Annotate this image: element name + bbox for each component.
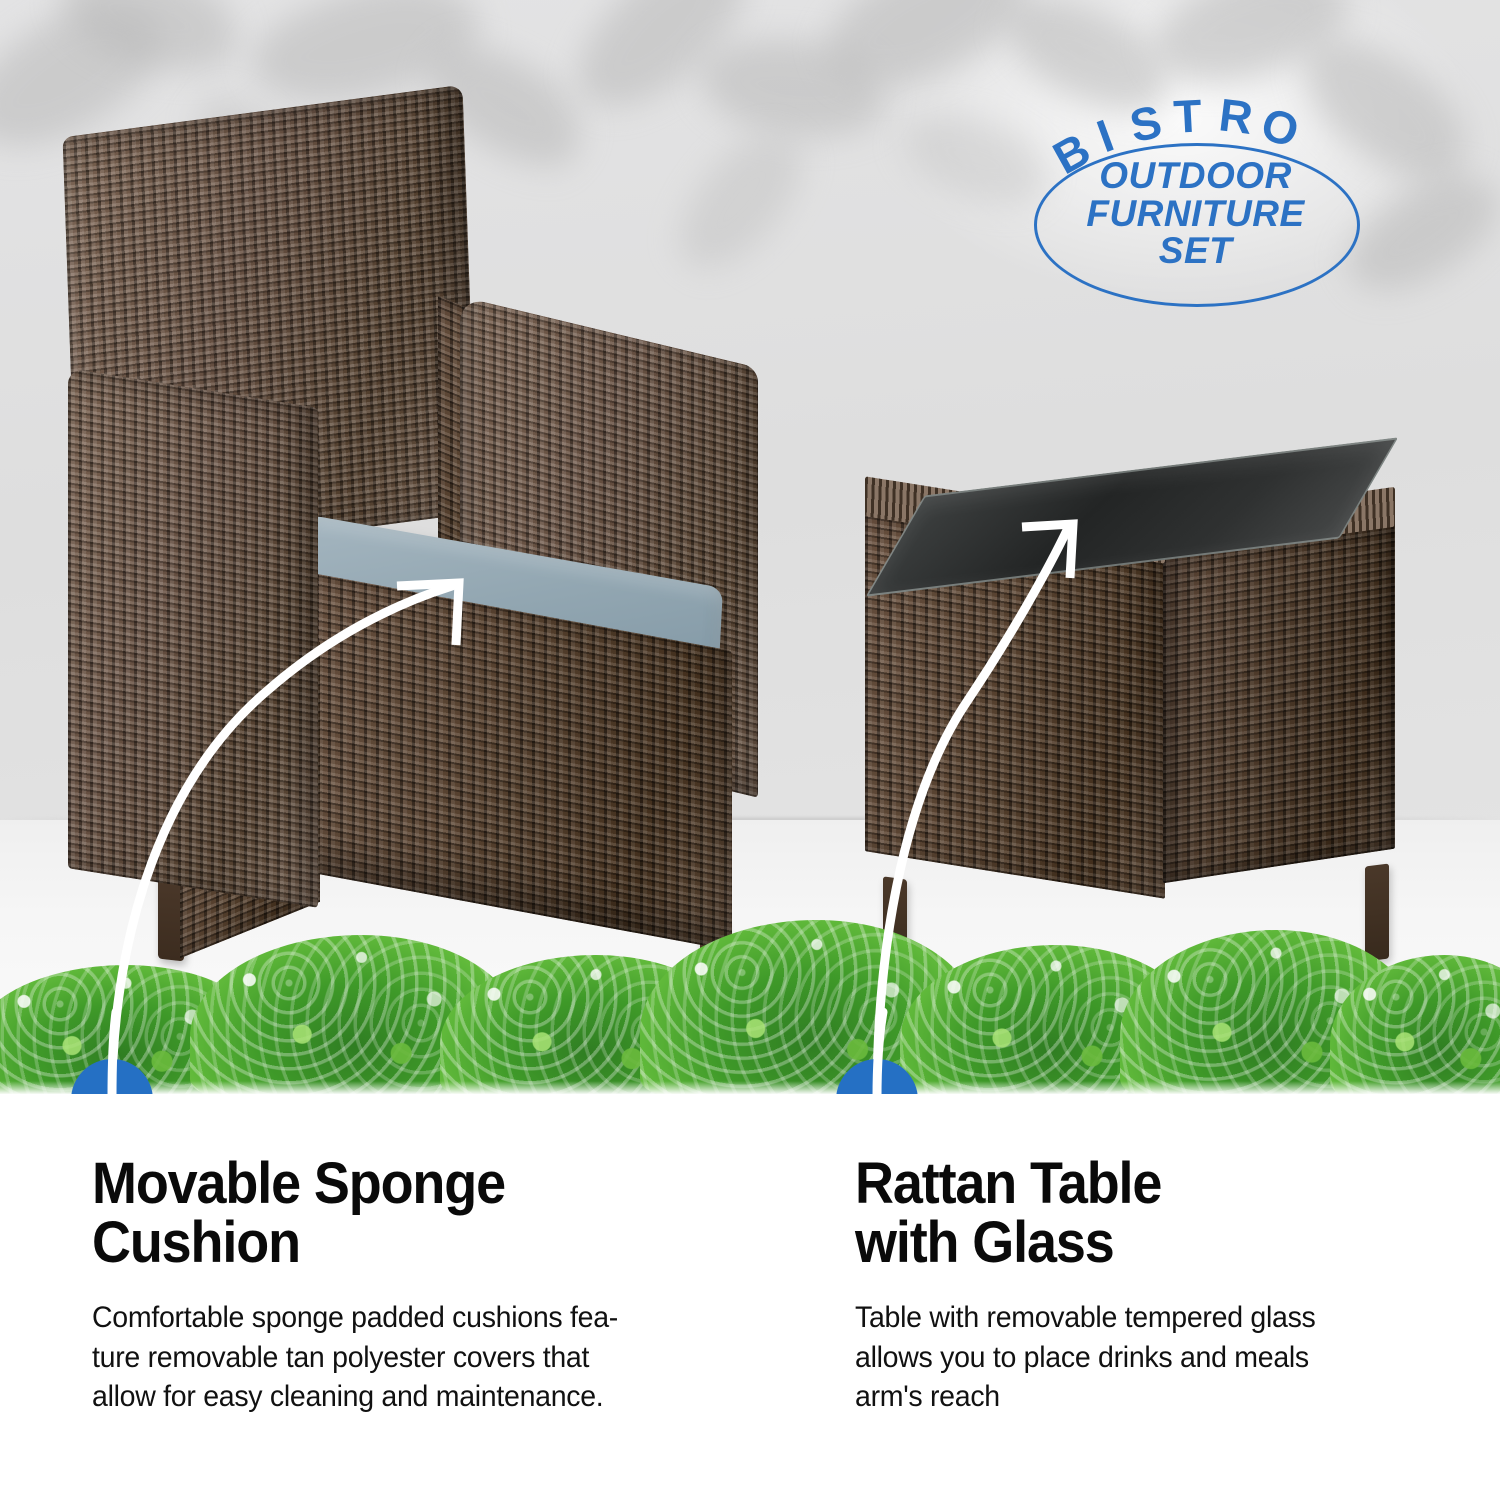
badge-subtitle: OUTDOOR FURNITURE SET xyxy=(1038,157,1353,270)
rattan-side-table xyxy=(855,470,1455,940)
bistro-badge: B I S T R O OUTDOOR FURNITURE SET xyxy=(1020,85,1390,315)
table-face-right xyxy=(1163,519,1395,884)
badge-line-furniture: FURNITURE xyxy=(1038,195,1353,233)
feature-body-table: Table with removable tempered glass allo… xyxy=(855,1298,1425,1416)
arch-letter-4: R xyxy=(1216,87,1256,145)
arch-letter-3: T xyxy=(1172,88,1203,143)
feature-body-cushion: Comfortable sponge padded cushions fea- … xyxy=(92,1298,724,1416)
arch-letter-2: S xyxy=(1125,94,1166,153)
feature-column-cushion: Movable Sponge Cushion Comfortable spong… xyxy=(92,1154,757,1416)
feature-title-table: Rattan Table with Glass xyxy=(855,1154,1413,1272)
feature-copy-area: Movable Sponge Cushion Comfortable spong… xyxy=(0,1094,1500,1500)
rattan-armchair xyxy=(60,110,790,940)
arch-letter-5: O xyxy=(1255,96,1306,158)
feature-title-cushion: Movable Sponge Cushion xyxy=(92,1154,710,1272)
badge-line-outdoor: OUTDOOR xyxy=(1038,157,1353,195)
feature-column-table: Rattan Table with Glass Table with remov… xyxy=(855,1154,1455,1416)
foliage-band xyxy=(0,905,1500,1094)
badge-line-set: SET xyxy=(1038,232,1353,270)
chair-arm-left xyxy=(68,368,318,908)
